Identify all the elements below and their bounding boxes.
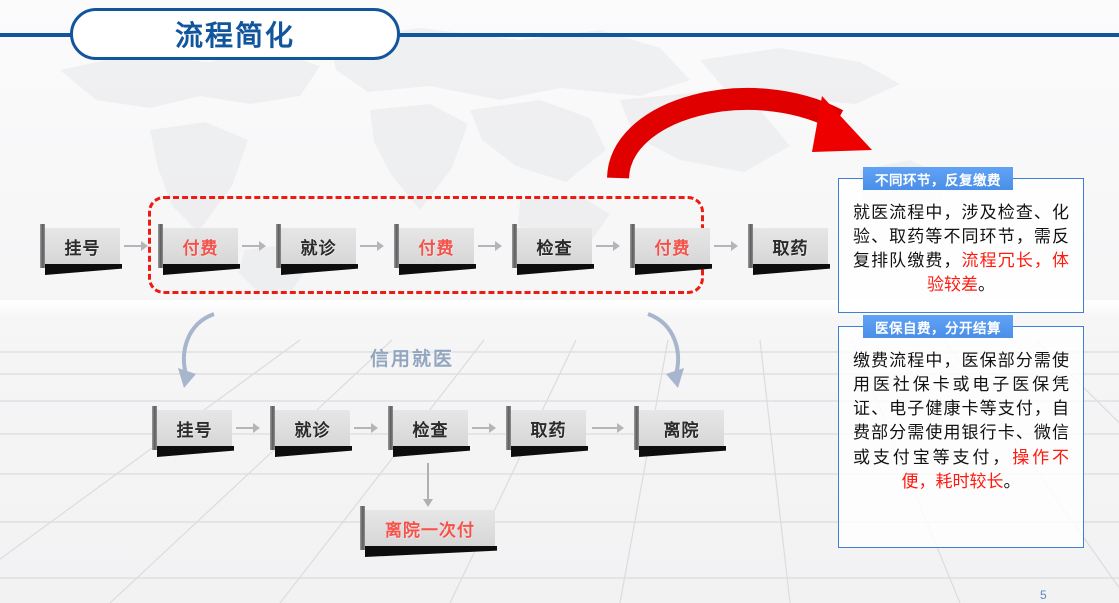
arrow-head-icon xyxy=(141,241,148,251)
node-shadow xyxy=(275,446,352,457)
title-pill: 流程简化 xyxy=(70,8,400,60)
issue-panel-1-heading: 不同环节，反复缴费 xyxy=(863,167,1013,190)
flow-node-row1-1[interactable]: 付费 xyxy=(158,228,238,264)
flow-node-outcome[interactable]: 离院一次付 xyxy=(360,510,495,546)
flow-node-label: 付费 xyxy=(650,234,691,259)
slide-title-banner: 流程简化 xyxy=(0,0,1119,72)
node-shadow xyxy=(157,446,234,457)
flow-node-label: 就诊 xyxy=(290,416,331,441)
transition-curve-left-icon xyxy=(172,308,222,393)
arrow-shaft xyxy=(354,427,371,429)
slide-canvas: 流程简化 挂号 付费 就诊 付费 xyxy=(0,0,1119,603)
flow-node-label: 就诊 xyxy=(296,234,337,259)
arrow-shaft xyxy=(714,245,731,247)
flow-node-label: 挂号 xyxy=(60,234,101,259)
flow-arrow-row2-3 xyxy=(592,422,624,434)
red-curved-arrow-icon xyxy=(600,78,890,183)
arrow-head-icon xyxy=(423,499,433,507)
flow-node-row1-0[interactable]: 挂号 xyxy=(40,228,120,264)
flow-arrow-row1-0 xyxy=(124,240,148,252)
node-shadow xyxy=(393,446,470,457)
panel-1-text-tail: 。 xyxy=(978,275,995,295)
issue-panel-2: 医保自费，分开结算 缴费流程中，医保部分需使用医社保卡或电子医保凭证、电子健康卡… xyxy=(838,326,1084,548)
transition-curve-right-icon xyxy=(640,308,690,393)
flow-arrow-row2-2 xyxy=(472,422,496,434)
flow-node-label: 离院 xyxy=(659,416,700,441)
issue-panel-2-body: 缴费流程中，医保部分需使用医社保卡或电子医保凭证、电子健康卡等支付，自费部分需使… xyxy=(839,327,1083,504)
flow-node-row1-2[interactable]: 就诊 xyxy=(276,228,356,264)
arrow-shaft xyxy=(124,245,141,247)
flow-node-label: 取药 xyxy=(526,416,567,441)
arrow-head-icon xyxy=(253,423,260,433)
flow-node-row2-3[interactable]: 取药 xyxy=(506,410,586,446)
flow-node-row1-5[interactable]: 付费 xyxy=(630,228,710,264)
flow-node-row1-3[interactable]: 付费 xyxy=(394,228,474,264)
node-shadow xyxy=(511,446,588,457)
panel-2-text-tail: 。 xyxy=(1004,472,1021,492)
flow-node-row2-1[interactable]: 就诊 xyxy=(270,410,350,446)
page-number: 5 xyxy=(1040,588,1047,602)
flow-node-label: 付费 xyxy=(414,234,455,259)
arrow-shaft xyxy=(592,427,617,429)
flow-node-row1-6[interactable]: 取药 xyxy=(748,228,828,264)
flow-node-label: 取药 xyxy=(768,234,809,259)
arrow-head-icon xyxy=(731,241,738,251)
flow-node-label: 检查 xyxy=(532,234,573,259)
node-shadow xyxy=(753,264,830,275)
issue-panel-1-body: 就医流程中，涉及检查、化验、取药等不同环节，需反复排队缴费，流程冗长，体验较差。 xyxy=(839,179,1083,308)
arrow-shaft xyxy=(236,427,253,429)
issue-panel-1: 不同环节，反复缴费 就医流程中，涉及检查、化验、取药等不同环节，需反复排队缴费，… xyxy=(838,178,1084,313)
flow-node-label: 付费 xyxy=(178,234,219,259)
flow-node-label: 挂号 xyxy=(172,416,213,441)
arrow-shaft xyxy=(472,427,489,429)
flow-arrow-row2-1 xyxy=(354,422,378,434)
arrow-head-icon xyxy=(489,423,496,433)
flow-node-label: 检查 xyxy=(408,416,449,441)
flow-node-row2-4[interactable]: 离院 xyxy=(634,410,724,446)
banner-rule-right xyxy=(393,33,1119,37)
arrow-head-icon xyxy=(371,423,378,433)
flow-node-label: 离院一次付 xyxy=(380,516,475,541)
node-shadow xyxy=(365,546,497,557)
flow-arrow-row1-5 xyxy=(714,240,738,252)
flow-node-row2-0[interactable]: 挂号 xyxy=(152,410,232,446)
banner-rule-left xyxy=(0,33,78,37)
issue-panel-2-heading: 医保自费，分开结算 xyxy=(863,315,1013,338)
flow-arrow-row2-0 xyxy=(236,422,260,434)
node-shadow xyxy=(639,446,726,457)
page-title: 流程简化 xyxy=(175,14,295,54)
flow-node-row2-2[interactable]: 检查 xyxy=(388,410,468,446)
arrow-shaft xyxy=(427,463,429,499)
transition-label: 信用就医 xyxy=(370,344,454,371)
flow-node-row1-4[interactable]: 检查 xyxy=(512,228,592,264)
arrow-head-icon xyxy=(617,423,624,433)
flow-arrow-down-to-outcome xyxy=(422,463,434,507)
node-shadow xyxy=(45,264,122,275)
